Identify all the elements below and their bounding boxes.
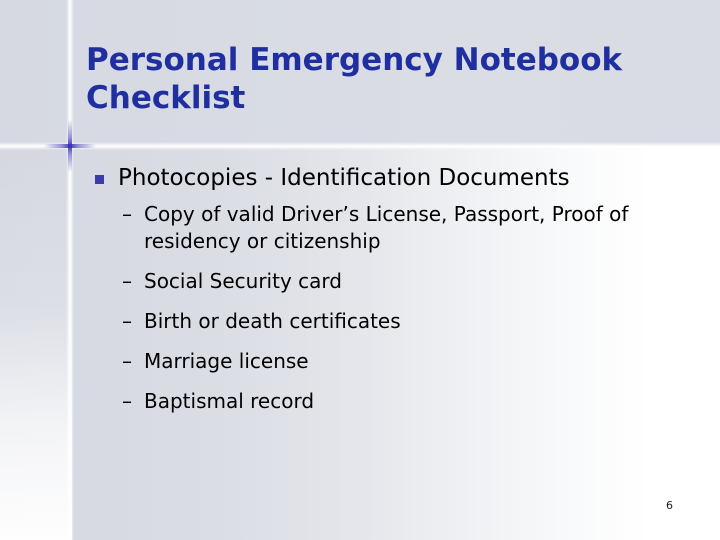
list-item-label: Copy of valid Driver’s License, Passport… — [144, 201, 706, 255]
list-item-label: Social Security card — [144, 268, 706, 295]
cross-accent-horizontal — [44, 144, 96, 148]
list-item: – Birth or death certificates — [122, 308, 706, 335]
slide-title: Personal Emergency Notebook Checklist — [86, 41, 686, 117]
list-item-label: Baptismal record — [144, 388, 706, 415]
bullet-item-photocopies: Photocopies - Identification Documents — [86, 163, 706, 193]
vertical-divider-line — [66, 0, 74, 540]
list-item: – Marriage license — [122, 348, 706, 375]
slide-background-left-fade — [0, 146, 72, 540]
slide-title-line-2: Checklist — [86, 79, 686, 117]
sub-bullet-list: – Copy of valid Driver’s License, Passpo… — [86, 201, 706, 415]
slide-content-body: Photocopies - Identification Documents –… — [86, 163, 706, 415]
bullet-item-label: Photocopies - Identification Documents — [118, 165, 570, 191]
list-item-label: Marriage license — [144, 348, 706, 375]
dash-bullet-icon: – — [122, 201, 132, 228]
dash-bullet-icon: – — [122, 348, 132, 375]
square-bullet-icon — [95, 175, 104, 184]
slide-title-line-1: Personal Emergency Notebook — [86, 41, 686, 79]
list-item: – Copy of valid Driver’s License, Passpo… — [122, 201, 706, 255]
dash-bullet-icon: – — [122, 268, 132, 295]
presentation-slide: Personal Emergency Notebook Checklist Ph… — [0, 0, 720, 540]
page-number: 6 — [666, 499, 673, 512]
dash-bullet-icon: – — [122, 308, 132, 335]
list-item: – Social Security card — [122, 268, 706, 295]
list-item: – Baptismal record — [122, 388, 706, 415]
dash-bullet-icon: – — [122, 388, 132, 415]
list-item-label: Birth or death certificates — [144, 308, 706, 335]
horizontal-divider-line — [0, 142, 720, 150]
